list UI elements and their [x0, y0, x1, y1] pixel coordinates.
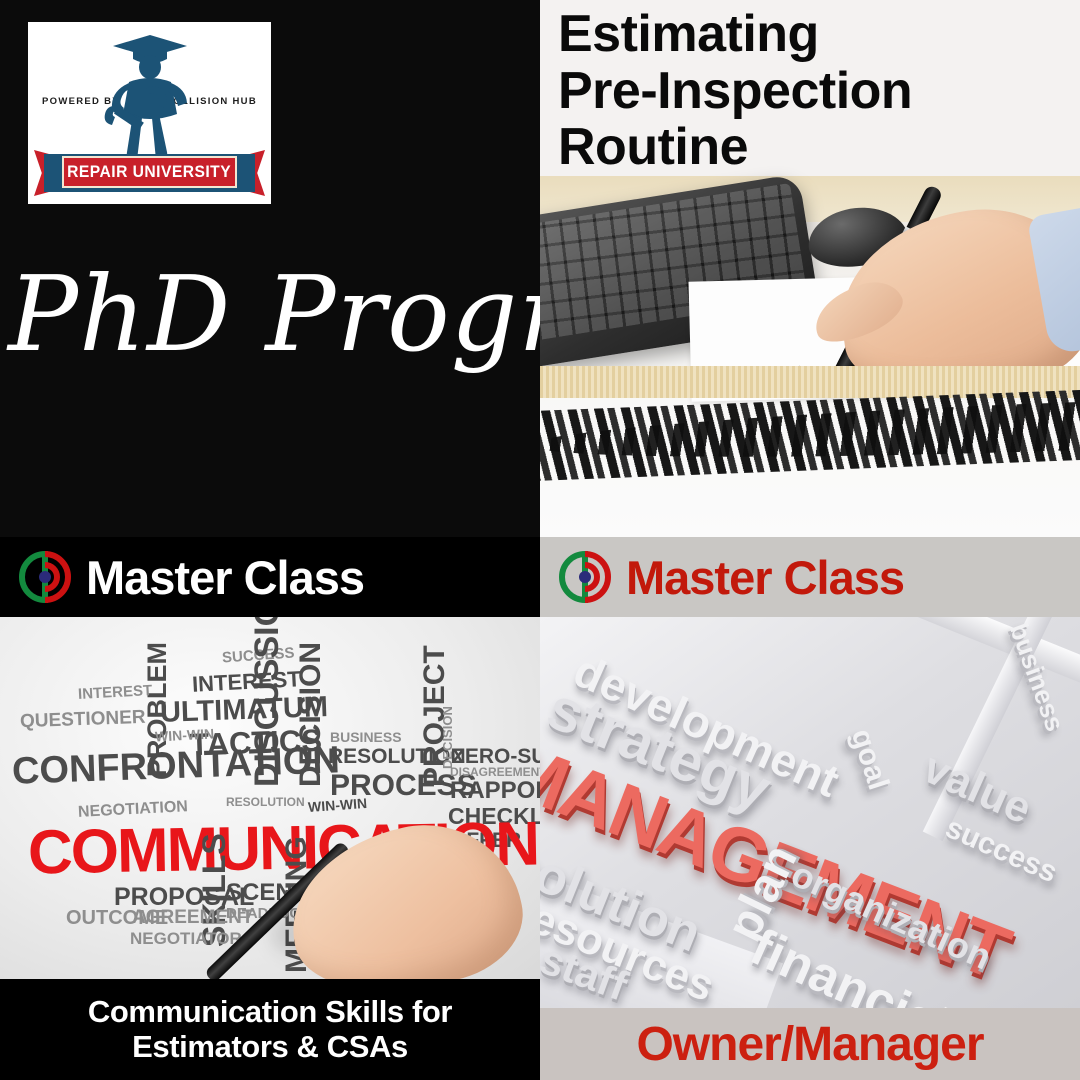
panel-communication-skills: SUCCESS INTEREST ULTIMATUM TACTICS PROBL…: [0, 617, 540, 1080]
course-title-line-1: Estimating: [558, 6, 1028, 63]
word-art-term: goal: [844, 725, 895, 794]
master-class-bar-right: Master Class: [540, 537, 1080, 617]
target-circle-icon: [18, 550, 72, 604]
word-cloud-term: WIN-WIN: [155, 725, 215, 744]
management-3d-word-art: development strategy goal value success …: [540, 617, 1080, 1008]
word-cloud-term: CONFRONTATION: [11, 739, 340, 793]
panel-owner-manager: development strategy goal value success …: [540, 617, 1080, 1080]
communication-word-cloud-photo: SUCCESS INTEREST ULTIMATUM TACTICS PROBL…: [0, 617, 540, 979]
word-cloud-term: QUESTIONER: [20, 707, 146, 733]
master-class-label-right: Master Class: [626, 550, 904, 605]
course-caption-line-2: Estimators & CSAs: [132, 1030, 408, 1065]
course-title: Estimating Pre-Inspection Routine: [558, 6, 1028, 176]
course-caption-line-1: Communication Skills for: [88, 995, 452, 1030]
logo-banner-plate: REPAIR UNIVERSITY: [62, 156, 237, 188]
course-title-line-2: Pre-Inspection: [558, 63, 1028, 120]
panel-estimating-pre-inspection: Estimating Pre-Inspection Routine: [540, 0, 1080, 537]
logo-banner-text: REPAIR UNIVERSITY: [68, 162, 232, 182]
word-cloud-term: NEGOTIATOR: [130, 929, 242, 949]
repair-university-logo: POWERED BY COLLISION HUB: [28, 22, 271, 204]
word-cloud-term: BUSINESS: [330, 729, 402, 745]
logo-banner: REPAIR UNIVERSITY: [34, 150, 265, 196]
course-caption-text: Owner/Manager: [636, 1017, 983, 1072]
course-caption: Owner/Manager: [540, 1008, 1080, 1080]
word-cloud-term: RAPPORT: [450, 777, 540, 805]
course-title-line-3: Routine: [558, 119, 1028, 176]
word-cloud-term: DISCUSSION: [248, 617, 287, 787]
panel-phd-program: POWERED BY COLLISION HUB: [0, 0, 540, 537]
master-class-label-left: Master Class: [86, 550, 364, 605]
word-cloud-term: RESOLUTION: [226, 795, 305, 809]
course-collage: POWERED BY COLLISION HUB: [0, 0, 1080, 1080]
phd-program-title: PhD Program: [8, 262, 538, 366]
course-caption: Communication Skills for Estimators & CS…: [0, 979, 540, 1080]
master-class-bar-left: Master Class: [0, 537, 540, 617]
word-cloud-term: DECISION: [294, 642, 328, 787]
target-circle-icon: [558, 550, 612, 604]
